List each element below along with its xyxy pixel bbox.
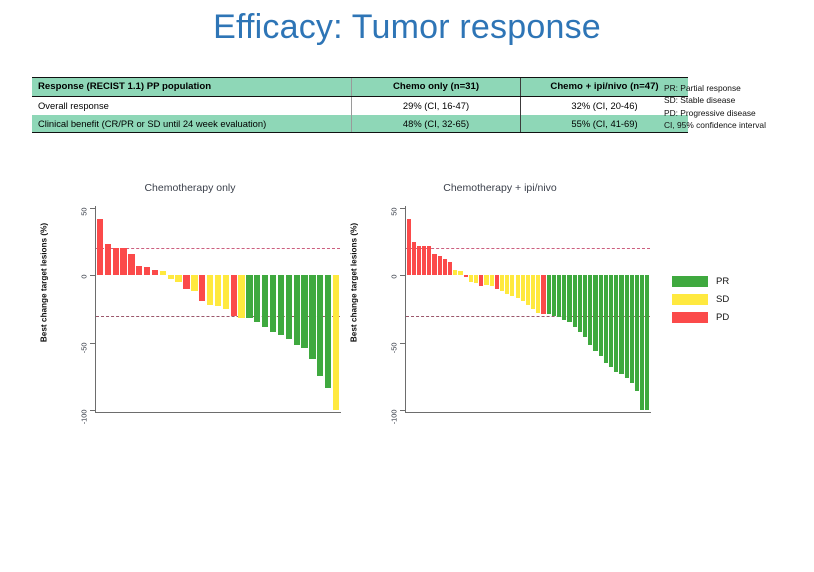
abbrev-pd: PD: Progressive disease — [664, 107, 814, 119]
waterfall-bar — [223, 275, 229, 309]
waterfall-bar — [333, 275, 339, 410]
waterfall-bar — [286, 275, 292, 338]
waterfall-bar — [547, 275, 551, 314]
waterfall-bar — [144, 267, 150, 275]
waterfall-bar — [278, 275, 284, 334]
waterfall-bar — [521, 275, 525, 301]
page-title: Efficacy: Tumor response — [0, 8, 814, 47]
plot-area-left — [96, 208, 340, 410]
waterfall-bar — [128, 254, 134, 276]
waterfall-bar — [510, 275, 514, 295]
cell-overall-response-chemo-only: 29% (CI, 16-47) — [352, 96, 521, 114]
table-header-cell-label: Response (RECIST 1.1) PP population — [32, 78, 352, 97]
legend-label-pr: PR — [716, 276, 729, 287]
waterfall-bar — [309, 275, 315, 358]
waterfall-bar — [254, 275, 260, 322]
legend-item-pr: PR — [672, 272, 729, 290]
waterfall-bar — [645, 275, 649, 410]
response-table: Response (RECIST 1.1) PP population Chem… — [32, 77, 688, 133]
x-axis-line-right — [405, 412, 651, 413]
waterfall-bar — [191, 275, 197, 291]
row-label-clinical-benefit: Clinical benefit (CR/PR or SD until 24 w… — [32, 115, 352, 133]
waterfall-bar — [573, 275, 577, 326]
waterfall-bar — [120, 248, 126, 275]
waterfall-bar — [516, 275, 520, 298]
waterfall-bar — [207, 275, 213, 305]
waterfall-bar — [152, 270, 158, 275]
y-axis-tick-label: -50 — [80, 342, 89, 386]
waterfall-bar — [495, 275, 499, 288]
waterfall-bar — [557, 275, 561, 317]
waterfall-bar — [583, 275, 587, 337]
waterfall-bar — [183, 275, 189, 288]
waterfall-bar — [246, 275, 252, 318]
waterfall-bar — [474, 275, 478, 283]
legend-swatch-pd — [672, 312, 708, 323]
waterfall-bar — [113, 248, 119, 275]
y-axis-tick — [400, 275, 405, 276]
y-axis-tick — [400, 208, 405, 209]
waterfall-bar — [500, 275, 504, 291]
waterfall-bar — [578, 275, 582, 332]
waterfall-bar — [238, 275, 244, 318]
waterfall-bar — [635, 275, 639, 391]
waterfall-bar — [168, 275, 174, 279]
abbrev-sd: SD: Stable disease — [664, 94, 814, 106]
cell-clinical-benefit-chemo-ipi-nivo: 55% (CI, 41-69) — [521, 115, 689, 133]
cell-overall-response-chemo-ipi-nivo: 32% (CI, 20-46) — [521, 96, 689, 114]
waterfall-bar — [536, 275, 540, 313]
table-header-cell-chemo-ipi-nivo: Chemo + ipi/nivo (n=47) — [521, 78, 689, 97]
waterfall-chart-chemo-only: Chemotherapy only Best change target les… — [30, 180, 350, 430]
waterfall-chart-chemo-ipi-nivo: Chemotherapy + ipi/nivo Best change targ… — [340, 180, 660, 430]
waterfall-bar — [505, 275, 509, 294]
waterfall-bar — [412, 242, 416, 276]
y-axis-tick-label: -100 — [390, 410, 399, 454]
plot-area-right — [406, 208, 650, 410]
abbrev-pr: PR: Partial response — [664, 82, 814, 94]
waterfall-bar — [231, 275, 237, 315]
y-axis-tick-label: 0 — [390, 275, 399, 319]
threshold-line-upper — [96, 248, 340, 249]
waterfall-bar — [526, 275, 530, 305]
waterfall-bar — [422, 246, 426, 276]
x-axis-line-left — [95, 412, 341, 413]
cell-clinical-benefit-chemo-only: 48% (CI, 32-65) — [352, 115, 521, 133]
waterfall-bar — [599, 275, 603, 356]
y-axis-tick-label: 50 — [80, 208, 89, 252]
y-axis-tick — [90, 343, 95, 344]
legend-swatch-pr — [672, 276, 708, 287]
waterfall-bar — [438, 256, 442, 275]
waterfall-bar — [105, 244, 111, 275]
abbreviation-key: PR: Partial response SD: Stable disease … — [664, 82, 814, 131]
table-header-row: Response (RECIST 1.1) PP population Chem… — [32, 78, 688, 97]
waterfall-bar — [417, 246, 421, 276]
y-axis-label-left: Best change target lesions (%) — [40, 213, 49, 353]
waterfall-bar — [317, 275, 323, 376]
waterfall-bar — [464, 275, 468, 276]
y-axis-tick-label: -50 — [390, 342, 399, 386]
chart-title-chemo-only: Chemotherapy only — [30, 182, 350, 194]
waterfall-bar — [479, 275, 483, 286]
y-axis-tick-label: -100 — [80, 410, 89, 454]
waterfall-bar — [325, 275, 331, 388]
waterfall-bar — [97, 219, 103, 276]
waterfall-bar — [531, 275, 535, 309]
table-header-cell-chemo-only: Chemo only (n=31) — [352, 78, 521, 97]
threshold-line-upper — [406, 248, 650, 249]
waterfall-bar — [448, 262, 452, 275]
y-axis-tick — [90, 208, 95, 209]
table-row: Clinical benefit (CR/PR or SD until 24 w… — [32, 115, 688, 133]
waterfall-bar — [609, 275, 613, 367]
table-row: Overall response 29% (CI, 16-47) 32% (CI… — [32, 96, 688, 114]
y-axis-tick — [90, 410, 95, 411]
legend-label-pd: PD — [716, 312, 729, 323]
waterfall-bar — [630, 275, 634, 383]
legend-item-sd: SD — [672, 290, 729, 308]
waterfall-bar — [541, 275, 545, 314]
waterfall-bar — [453, 270, 457, 275]
waterfall-bar — [262, 275, 268, 326]
y-axis-tick — [400, 410, 405, 411]
waterfall-bar — [301, 275, 307, 348]
y-axis-tick-label: 0 — [80, 275, 89, 319]
legend-label-sd: SD — [716, 294, 729, 305]
waterfall-bar — [199, 275, 205, 301]
waterfall-bar — [136, 266, 142, 275]
waterfall-bar — [270, 275, 276, 332]
waterfall-bar — [427, 246, 431, 276]
waterfall-bar — [562, 275, 566, 319]
waterfall-bar — [407, 219, 411, 276]
waterfall-bar — [469, 275, 473, 282]
chart-title-chemo-ipi-nivo: Chemotherapy + ipi/nivo — [340, 182, 660, 194]
chart-legend: PR SD PD — [672, 272, 729, 326]
y-axis-label-right: Best change target lesions (%) — [350, 213, 359, 353]
waterfall-bar — [625, 275, 629, 377]
waterfall-bar — [215, 275, 221, 306]
waterfall-bar — [640, 275, 644, 410]
waterfall-bar — [490, 275, 494, 286]
waterfall-bar — [619, 275, 623, 373]
waterfall-bar — [567, 275, 571, 322]
waterfall-bar — [432, 254, 436, 276]
waterfall-bar — [604, 275, 608, 363]
waterfall-bar — [614, 275, 618, 372]
legend-swatch-sd — [672, 294, 708, 305]
y-axis-tick — [400, 343, 405, 344]
waterfall-bar — [552, 275, 556, 315]
waterfall-bar — [160, 271, 166, 275]
row-label-overall-response: Overall response — [32, 96, 352, 114]
y-axis-tick-label: 50 — [390, 208, 399, 252]
waterfall-bar — [458, 271, 462, 275]
legend-item-pd: PD — [672, 308, 729, 326]
y-axis-tick — [90, 275, 95, 276]
waterfall-bar — [294, 275, 300, 345]
waterfall-bar — [484, 275, 488, 284]
waterfall-bar — [443, 259, 447, 275]
waterfall-bar — [175, 275, 181, 282]
abbrev-ci: CI, 95% confidence interval — [664, 119, 814, 131]
waterfall-bar — [588, 275, 592, 345]
waterfall-bar — [593, 275, 597, 350]
